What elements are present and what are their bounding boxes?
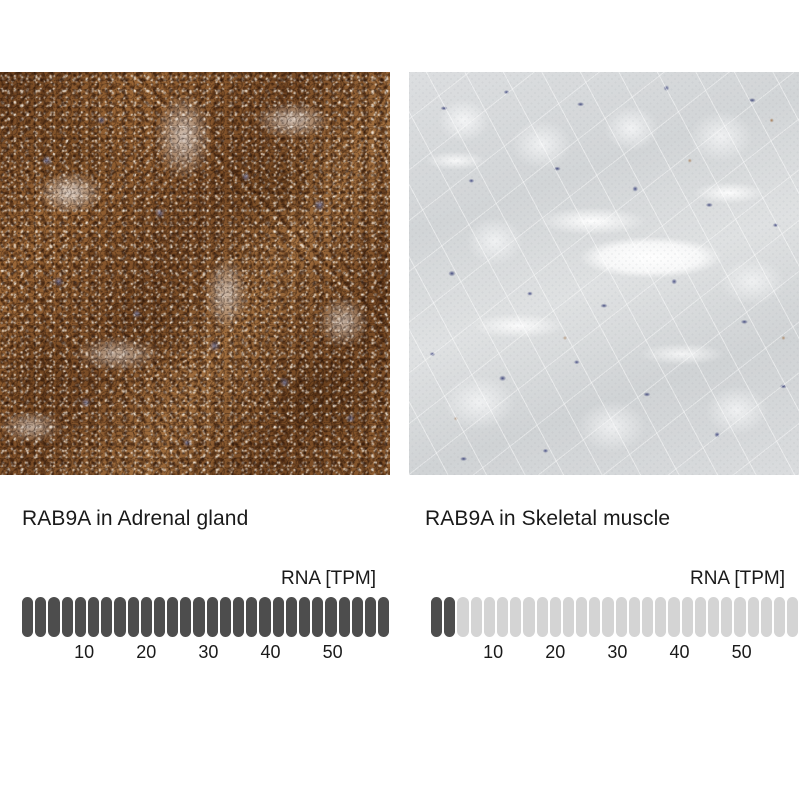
page-root: RAB9A in Adrenal gland RNA [TPM] 1020304… [0, 0, 800, 800]
rna-tick-label: 30 [198, 642, 218, 663]
rna-tick-label: 40 [669, 642, 689, 663]
rna-segment [167, 597, 178, 637]
rna-segment [233, 597, 244, 637]
rna-tick-label: 20 [545, 642, 565, 663]
adrenal-gland-tissue-image [0, 72, 390, 475]
micrograph-panel-adrenal-gland[interactable] [0, 72, 390, 475]
rna-segment [325, 597, 336, 637]
rna-segment [180, 597, 191, 637]
rna-segment [734, 597, 745, 637]
rna-segment [761, 597, 772, 637]
rna-tick-label: 20 [136, 642, 156, 663]
rna-tick-label: 40 [260, 642, 280, 663]
rna-segment [602, 597, 613, 637]
rna-segment [550, 597, 561, 637]
rna-segment [101, 597, 112, 637]
rna-segment [22, 597, 33, 637]
rna-segment [523, 597, 534, 637]
rna-segment [273, 597, 284, 637]
rna-segment [48, 597, 59, 637]
rna-segment [642, 597, 653, 637]
rna-segment [471, 597, 482, 637]
rna-segment [457, 597, 468, 637]
rna-segment [563, 597, 574, 637]
micrograph-panel-skeletal-muscle[interactable] [409, 72, 799, 475]
rna-segment [312, 597, 323, 637]
rna-segment [444, 597, 455, 637]
rna-segment [774, 597, 785, 637]
rna-segment [339, 597, 350, 637]
rna-tick-label: 10 [74, 642, 94, 663]
rna-segment [497, 597, 508, 637]
rna-segment [629, 597, 640, 637]
rna-segment [655, 597, 666, 637]
rna-axis-ticks-adrenal: 1020304050 [0, 642, 390, 664]
rna-segment [510, 597, 521, 637]
rna-segment [259, 597, 270, 637]
rna-segment [708, 597, 719, 637]
rna-axis-ticks-skeletal-muscle: 1020304050 [409, 642, 799, 664]
rna-tick-label: 30 [607, 642, 627, 663]
rna-segment [682, 597, 693, 637]
skeletal-muscle-tissue-image [409, 72, 799, 475]
rna-segment [616, 597, 627, 637]
rna-tpm-label-skeletal-muscle: RNA [TPM] [690, 568, 785, 590]
rna-segment [114, 597, 125, 637]
rna-segment-track-adrenal[interactable] [22, 597, 389, 637]
rna-segment [748, 597, 759, 637]
rna-segment [286, 597, 297, 637]
rna-segment [88, 597, 99, 637]
rna-segment [62, 597, 73, 637]
rna-segment-track-skeletal-muscle[interactable] [431, 597, 798, 637]
rna-segment [154, 597, 165, 637]
rna-segment [220, 597, 231, 637]
rna-tick-label: 10 [483, 642, 503, 663]
rna-segment [668, 597, 679, 637]
rna-segment [141, 597, 152, 637]
caption-skeletal-muscle: RAB9A in Skeletal muscle [425, 507, 670, 531]
rna-segment [787, 597, 798, 637]
rna-segment [246, 597, 257, 637]
rna-segment [128, 597, 139, 637]
rna-segment [537, 597, 548, 637]
rna-segment [299, 597, 310, 637]
rna-segment [576, 597, 587, 637]
rna-tpm-label-adrenal: RNA [TPM] [281, 568, 376, 590]
rna-segment [589, 597, 600, 637]
rna-segment [378, 597, 389, 637]
rna-tick-label: 50 [732, 642, 752, 663]
rna-segment [484, 597, 495, 637]
rna-tick-label: 50 [323, 642, 343, 663]
rna-segment [35, 597, 46, 637]
rna-segment [352, 597, 363, 637]
caption-adrenal-gland: RAB9A in Adrenal gland [22, 507, 248, 531]
rna-segment [695, 597, 706, 637]
rna-segment [207, 597, 218, 637]
rna-segment [365, 597, 376, 637]
rna-segment [75, 597, 86, 637]
rna-segment [193, 597, 204, 637]
rna-segment [721, 597, 732, 637]
rna-segment [431, 597, 442, 637]
